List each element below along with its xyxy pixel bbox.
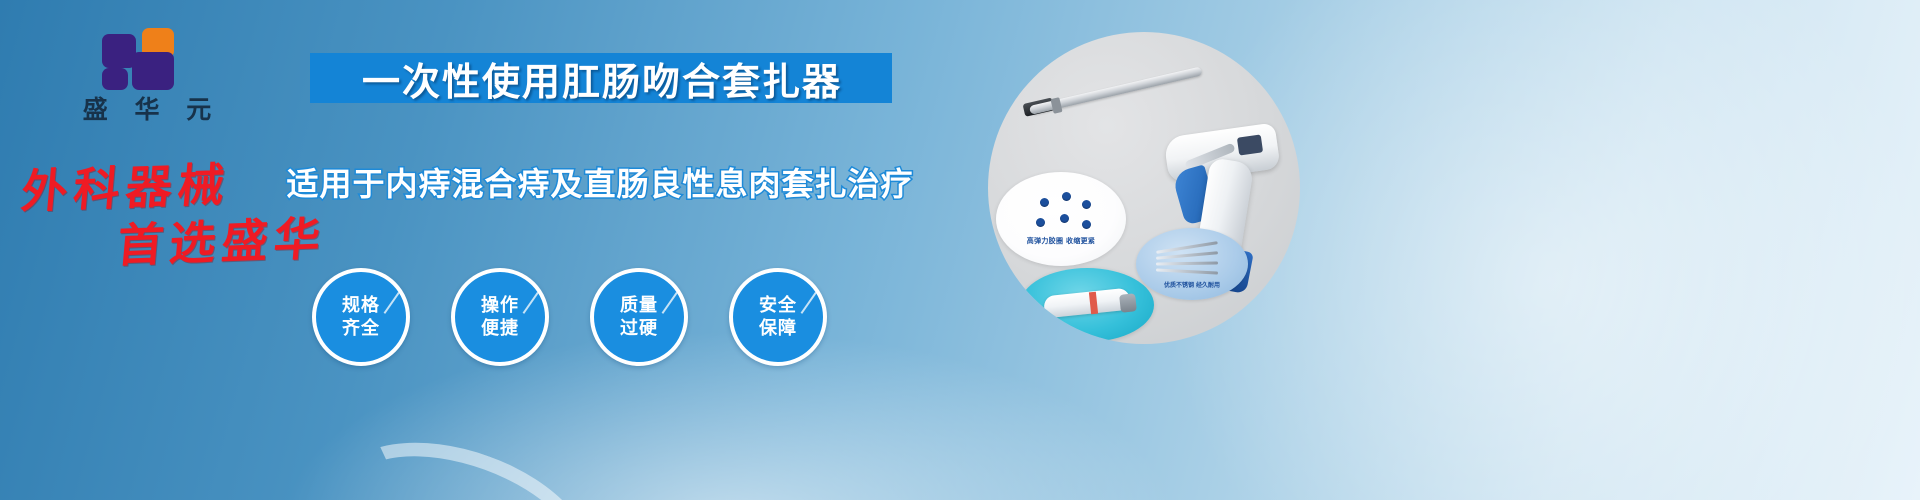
inset-metal-rods: 优质不锈钢 经久耐用 <box>1136 228 1248 300</box>
feature-badge-2[interactable]: 操作 便捷 <box>451 268 549 366</box>
slash-decor-icon <box>801 288 820 314</box>
slash-decor-icon <box>384 288 403 314</box>
feature-badge-1-line2: 齐全 <box>342 317 380 340</box>
slash-decor-icon <box>662 288 681 314</box>
brand-logo[interactable]: 盛 华 元 <box>62 28 232 123</box>
rubber-band-dot-icon <box>1036 218 1045 227</box>
feature-badge-4-line2: 保障 <box>759 317 797 340</box>
page-subtitle: 适用于内痔混合痔及直肠良性息肉套扎治疗 <box>300 160 900 204</box>
product-photo-circle: 高弹力胶圈 收缩更紧 优质不锈钢 经久耐用 <box>988 32 1300 344</box>
slogan-line-2: 首选盛华 <box>115 202 330 275</box>
inset-metal-rods-caption: 优质不锈钢 经久耐用 <box>1136 280 1248 289</box>
promo-banner: 盛 华 元 外科器械 首选盛华 一次性使用肛肠吻合套扎器 适用于内痔混合痔及直肠… <box>0 0 1920 500</box>
logo-block-purple-4 <box>158 52 174 90</box>
feature-badge-4-line1: 安全 <box>759 294 797 317</box>
feature-badge-1[interactable]: 规格 齐全 <box>312 268 410 366</box>
metal-rod-icon <box>1156 251 1218 259</box>
feature-badge-1-line1: 规格 <box>342 294 380 317</box>
rubber-band-dot-icon <box>1040 198 1049 207</box>
slash-decor-icon <box>523 288 542 314</box>
feature-badge-list: 规格 齐全 操作 便捷 质量 过硬 安全 保障 <box>312 268 892 364</box>
rubber-band-dot-icon <box>1082 220 1091 229</box>
logo-mark-icon <box>102 28 194 90</box>
rubber-band-dot-icon <box>1062 192 1071 201</box>
brand-name: 盛 华 元 <box>62 90 232 126</box>
device-control-panel-icon <box>1237 134 1263 155</box>
inset-rubber-bands-caption: 高弹力胶圈 收缩更紧 <box>996 236 1126 246</box>
page-title: 一次性使用肛肠吻合套扎器 <box>312 52 892 104</box>
inset-rubber-bands: 高弹力胶圈 收缩更紧 <box>996 172 1126 266</box>
logo-block-purple-3 <box>102 68 128 90</box>
feature-badge-4[interactable]: 安全 保障 <box>729 268 827 366</box>
feature-badge-3-line1: 质量 <box>620 294 658 317</box>
feature-badge-3-line2: 过硬 <box>620 317 658 340</box>
feature-badge-2-line1: 操作 <box>481 294 519 317</box>
inset-device-tip <box>1020 268 1154 342</box>
logo-block-purple-1 <box>102 34 136 68</box>
metal-rod-icon <box>1156 261 1218 265</box>
feature-badge-3[interactable]: 质量 过硬 <box>590 268 688 366</box>
rubber-band-dot-icon <box>1060 214 1069 223</box>
device-tip-end-icon <box>1119 293 1137 313</box>
device-tip-body-icon <box>1043 288 1131 319</box>
feature-badge-2-line2: 便捷 <box>481 317 519 340</box>
arc-decor <box>313 411 615 500</box>
metal-rod-icon <box>1156 268 1218 274</box>
rubber-band-dot-icon <box>1082 200 1091 209</box>
